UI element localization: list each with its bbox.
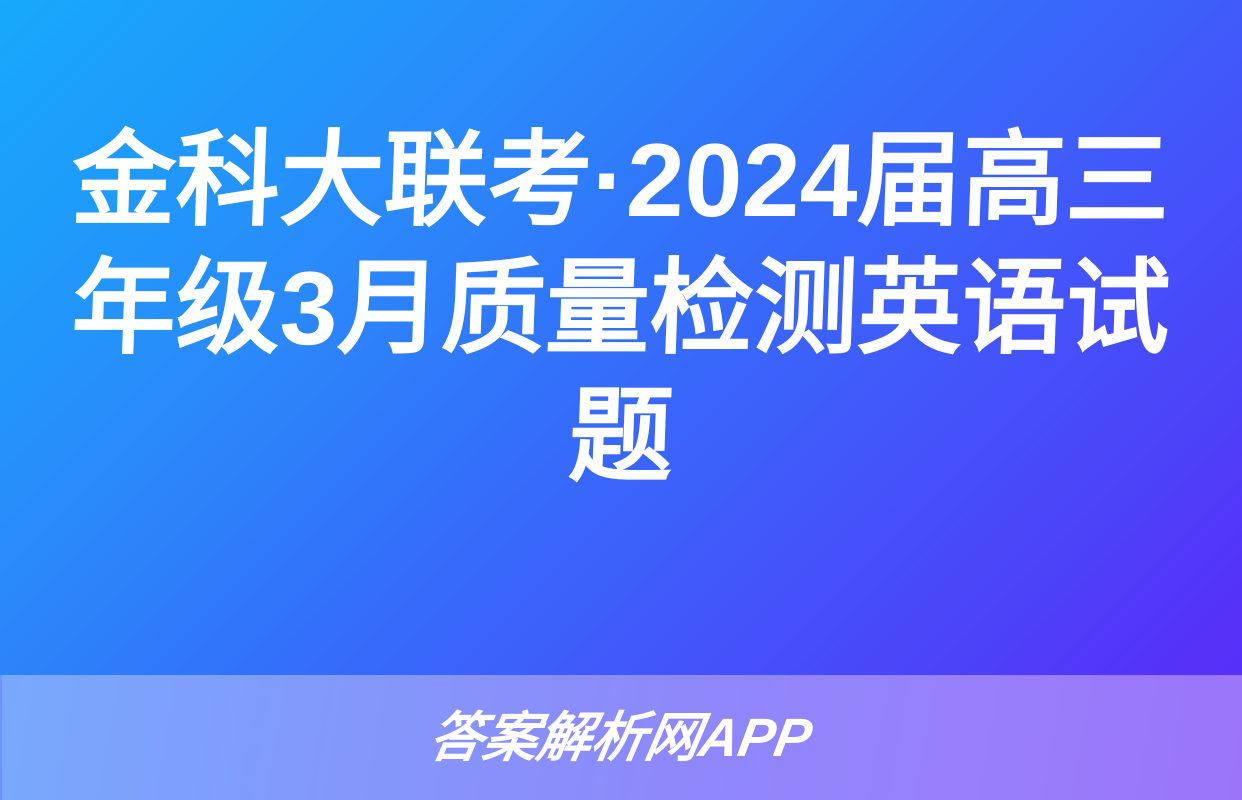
title-hero-area: 金科大联考·2024届高三 年级3月质量检测英语试 题 [0, 0, 1242, 675]
title-line-1: 金科大联考·2024届高三 [70, 117, 1172, 245]
band-left-edge-accent [0, 675, 2, 800]
watermark-band: 答案解析网APP [0, 675, 1242, 800]
title-line-2: 年级3月质量检测英语试 [70, 245, 1172, 373]
exam-title-poster: 金科大联考·2024届高三 年级3月质量检测英语试 题 答案解析网APP [0, 0, 1242, 800]
watermark-brand-label: 答案解析网APP [425, 709, 816, 767]
title-line-3: 题 [567, 373, 675, 501]
